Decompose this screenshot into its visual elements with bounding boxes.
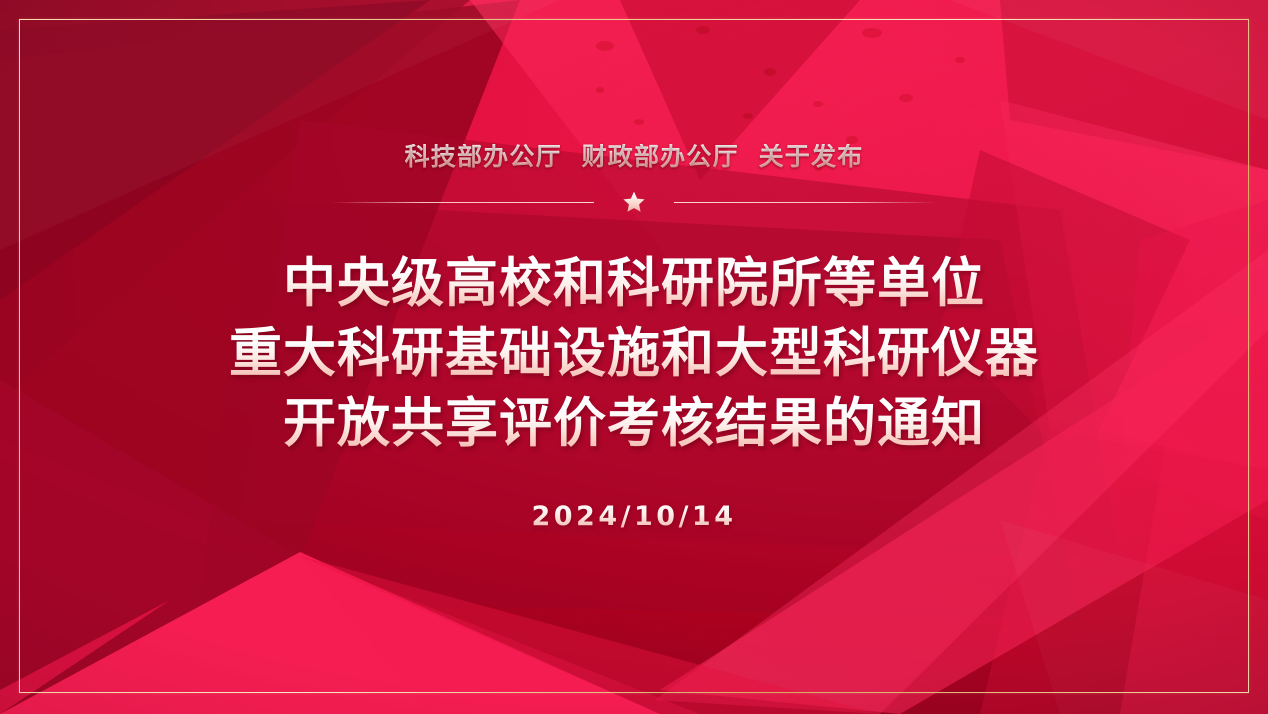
star-icon — [622, 190, 646, 214]
divider-rule-right — [674, 202, 937, 203]
title-line-3: 开放共享评价考核结果的通知 — [229, 389, 1039, 459]
title-line-1: 中央级高校和科研院所等单位 — [229, 249, 1039, 319]
issuing-authorities-subtitle: 科技部办公厅 财政部办公厅 关于发布 — [405, 144, 864, 169]
divider-rule-left — [331, 202, 594, 203]
title-line-2: 重大科研基础设施和大型科研仪器 — [229, 319, 1039, 389]
cover-content: 科技部办公厅 财政部办公厅 关于发布 中央级高校和科研院所等单位 重大科研基础设… — [0, 0, 1268, 714]
publication-date: 2024/10/14 — [531, 503, 736, 530]
document-title: 中央级高校和科研院所等单位 重大科研基础设施和大型科研仪器 开放共享评价考核结果… — [229, 249, 1039, 459]
star-divider — [331, 189, 937, 215]
poster-slide: 科技部办公厅 财政部办公厅 关于发布 中央级高校和科研院所等单位 重大科研基础设… — [0, 0, 1268, 714]
